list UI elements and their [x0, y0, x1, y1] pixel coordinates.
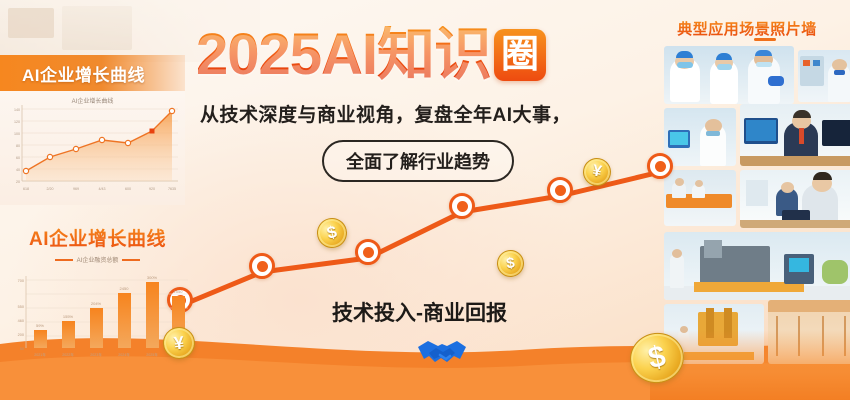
svg-text:550: 550	[18, 305, 24, 309]
photo-thumb[interactable]	[740, 170, 850, 228]
card-growth-curve-body: AI企业增长曲线	[0, 91, 185, 205]
svg-text:618: 618	[23, 187, 29, 191]
svg-text:200: 200	[18, 333, 24, 337]
svg-text:600: 600	[125, 187, 131, 191]
card-growth-curve-header: AI企业增长曲线	[0, 55, 185, 91]
legend-label: AI企业融资总额	[77, 255, 119, 264]
photo-thumb[interactable]	[798, 50, 850, 102]
svg-text:2450: 2450	[120, 286, 130, 291]
svg-text:59%: 59%	[36, 323, 44, 328]
line-node[interactable]	[449, 193, 475, 219]
handshake-icon	[416, 335, 468, 369]
legend-dash-left	[55, 259, 73, 261]
card-growth-bars-legend: AI企业融资总额	[0, 255, 195, 264]
card-growth-curve: AI企业增长曲线 AI企业增长曲线	[0, 55, 185, 205]
svg-text:700: 700	[18, 279, 24, 283]
svg-text:7635: 7635	[168, 187, 176, 191]
line-node[interactable]	[249, 253, 275, 279]
photo-thumb[interactable]	[664, 46, 794, 104]
poster-subtitle: 从技术深度与商业视角，复盘全年AI大事，	[200, 100, 571, 127]
line-node[interactable]	[547, 177, 573, 203]
svg-text:155%: 155%	[63, 314, 74, 319]
svg-text:4/43: 4/43	[99, 187, 106, 191]
card-growth-bars-title: AI企业增长曲线	[0, 222, 195, 251]
poster-canvas: 典型应用场景照片墙	[0, 0, 850, 400]
svg-text:2023年: 2023年	[90, 352, 102, 357]
poster-title: 2025AI知识 圈	[196, 26, 546, 84]
svg-text:100: 100	[14, 132, 20, 136]
svg-text:2550: 2550	[174, 289, 184, 294]
svg-text:2022年: 2022年	[62, 352, 74, 357]
poster-title-badge: 圈	[494, 29, 546, 81]
svg-text:300%: 300%	[147, 275, 158, 280]
svg-text:204%: 204%	[91, 301, 102, 306]
svg-text:140: 140	[14, 108, 20, 112]
svg-text:40: 40	[16, 168, 20, 172]
svg-text:120: 120	[14, 120, 20, 124]
svg-text:460: 460	[18, 319, 24, 323]
svg-text:80: 80	[16, 144, 20, 148]
svg-text:2/20: 2/20	[47, 187, 54, 191]
photo-thumb[interactable]	[740, 104, 850, 166]
photo-wall-title: 典型应用场景照片墙	[650, 18, 844, 39]
svg-text:20: 20	[16, 180, 20, 184]
business-label: 技术投入-商业回报	[332, 297, 507, 327]
poster-title-text: 2025AI知识	[196, 26, 491, 84]
poster-cta-pill[interactable]: 全面了解行业趋势	[322, 140, 514, 182]
svg-text:60: 60	[16, 156, 20, 160]
svg-text:969: 969	[73, 187, 79, 191]
svg-text:2025年: 2025年	[146, 352, 158, 357]
photo-wall-underline	[754, 38, 776, 41]
svg-text:920: 920	[149, 187, 155, 191]
legend-dash-right	[122, 259, 140, 261]
line-node[interactable]	[355, 239, 381, 265]
growth-curve-plot: 204060 80100120 140 6182/20969 4/4360092…	[0, 91, 185, 205]
card-growth-curve-mini-title: AI企业增长曲线	[0, 96, 185, 105]
svg-text:2024年: 2024年	[118, 352, 130, 357]
line-node[interactable]	[647, 153, 673, 179]
svg-text:50: 50	[20, 347, 24, 351]
svg-text:2021年: 2021年	[34, 352, 46, 357]
